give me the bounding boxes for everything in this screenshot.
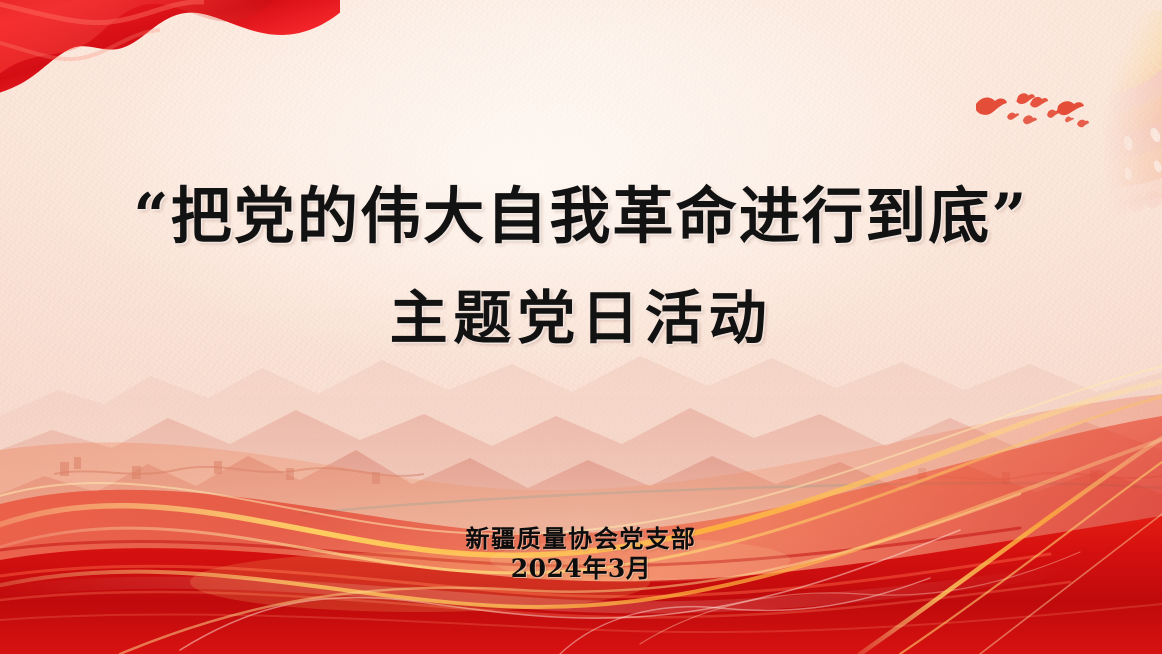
title-line-1: “把党的伟大自我革命进行到底”: [0, 186, 1162, 247]
footer-block: 新疆质量协会党支部 2024年3月: [0, 526, 1162, 583]
title-block: “把党的伟大自我革命进行到底” 主题党日活动: [0, 186, 1162, 347]
footer-organization: 新疆质量协会党支部: [0, 526, 1162, 553]
flying-doves-flock: [962, 82, 1122, 142]
red-silk-gold-ribbons: [0, 354, 1162, 654]
ink-wash-mountains: [0, 298, 1162, 578]
title-slide: “把党的伟大自我革命进行到底” 主题党日活动 新疆质量协会党支部 2024年3月: [0, 0, 1162, 654]
sunburst-star-medallion: [858, 0, 1162, 264]
paper-glow: [0, 0, 1162, 654]
paper-texture: [0, 0, 1162, 654]
footer-date: 2024年3月: [0, 555, 1162, 583]
red-flag-decoration: [0, 0, 340, 192]
title-line-2: 主题党日活动: [0, 289, 1162, 347]
